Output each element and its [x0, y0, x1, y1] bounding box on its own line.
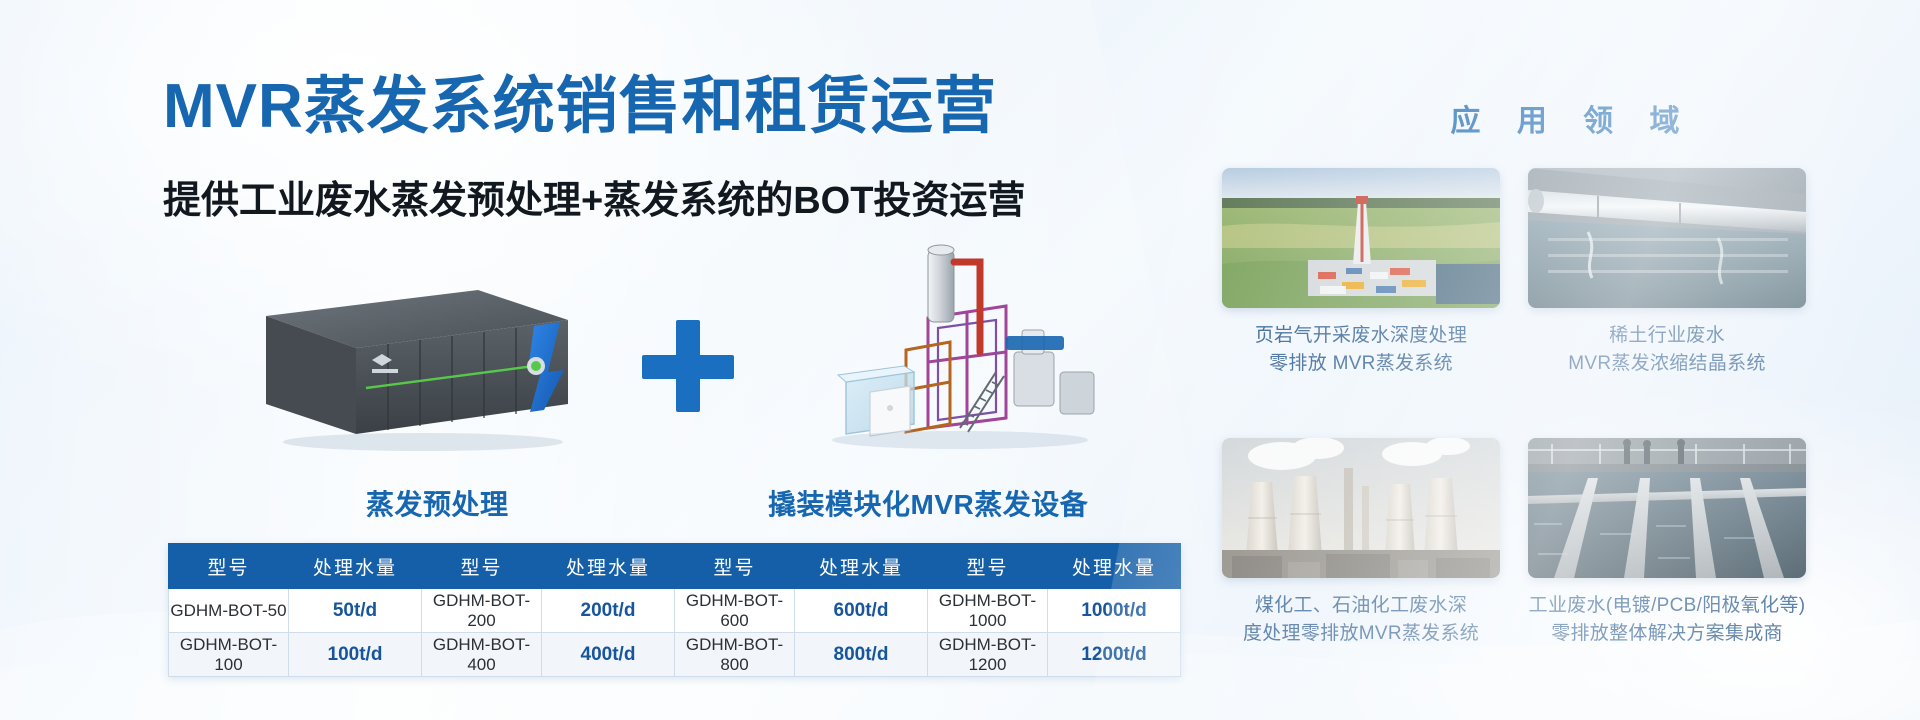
application-label-line1: 工业废水(电镀/PCB/阳极氧化等) — [1529, 595, 1806, 616]
table-header-cell: 处理水量 — [1048, 544, 1181, 589]
table-cell-model: GDHM-BOT-600 — [675, 589, 795, 633]
table-header-cell: 处理水量 — [542, 544, 675, 589]
table-row: GDHM-BOT-100 100t/d GDHM-BOT-400 400t/d … — [169, 633, 1181, 677]
industrial-wastewater-tank-photo — [1528, 438, 1806, 578]
application-card-label: 稀土行业废水 MVR蒸发浓缩结晶系统 — [1528, 322, 1806, 377]
application-label-line1: 页岩气开采废水深度处理 — [1255, 325, 1467, 346]
table-header-cell: 处理水量 — [795, 544, 928, 589]
shale-gas-drilling-site-photo — [1222, 168, 1500, 308]
evaporation-pretreatment-image — [248, 276, 578, 456]
application-label-line1: 稀土行业废水 — [1609, 325, 1725, 346]
table-header-cell: 处理水量 — [289, 544, 422, 589]
table-cell-model: GDHM-BOT-1200 — [928, 633, 1048, 677]
application-card-rare-earth[interactable]: 稀土行业废水 MVR蒸发浓缩结晶系统 — [1528, 168, 1806, 377]
application-card-label: 煤化工、石油化工废水深 度处理零排放MVR蒸发系统 — [1222, 592, 1500, 647]
table-header-row: 型号 处理水量 型号 处理水量 型号 处理水量 型号 处理水量 — [169, 544, 1181, 589]
table-cell-model: GDHM-BOT-400 — [422, 633, 542, 677]
product-caption-pretreatment: 蒸发预处理 — [366, 483, 509, 523]
applications-panel: 应 用 领 域 — [1210, 0, 1920, 720]
table-cell-capacity: 50t/d — [289, 589, 422, 633]
application-card-coal-chemical[interactable]: 煤化工、石油化工废水深 度处理零排放MVR蒸发系统 — [1222, 438, 1500, 647]
table-cell-model: GDHM-BOT-50 — [169, 589, 289, 633]
spec-table: 型号 处理水量 型号 处理水量 型号 处理水量 型号 处理水量 GDHM-BOT… — [168, 543, 1181, 677]
applications-heading: 应 用 领 域 — [1210, 96, 1920, 140]
coal-chemical-plant-photo — [1222, 438, 1500, 578]
left-panel: MVR蒸发系统销售和租赁运营 提供工业废水蒸发预处理+蒸发系统的BOT投资运营 — [0, 0, 1210, 720]
table-header-cell: 型号 — [675, 544, 795, 589]
skid-mvr-equipment-image — [810, 232, 1110, 462]
table-cell-model: GDHM-BOT-100 — [169, 633, 289, 677]
table-cell-model: GDHM-BOT-200 — [422, 589, 542, 633]
plus-vertical-bar — [676, 320, 700, 412]
table-cell-capacity: 800t/d — [795, 633, 928, 677]
application-label-line1: 煤化工、石油化工废水深 — [1255, 595, 1467, 616]
application-label-line2: MVR蒸发浓缩结晶系统 — [1568, 353, 1766, 374]
product-caption-mvr: 撬装模块化MVR蒸发设备 — [768, 483, 1088, 523]
table-header-cell: 型号 — [422, 544, 542, 589]
table-header-cell: 型号 — [928, 544, 1048, 589]
page-subtitle: 提供工业废水蒸发预处理+蒸发系统的BOT投资运营 — [163, 182, 1173, 220]
application-card-industrial-wastewater[interactable]: 工业废水(电镀/PCB/阳极氧化等) 零排放整体解决方案集成商 — [1528, 438, 1806, 647]
plus-icon — [642, 320, 734, 412]
application-card-shale-gas[interactable]: 页岩气开采废水深度处理 零排放 MVR蒸发系统 — [1222, 168, 1500, 377]
rare-earth-pipeline-photo — [1528, 168, 1806, 308]
table-cell-capacity: 1200t/d — [1048, 633, 1181, 677]
application-label-line2: 零排放整体解决方案集成商 — [1551, 623, 1783, 644]
table-cell-capacity: 400t/d — [542, 633, 675, 677]
table-cell-model: GDHM-BOT-800 — [675, 633, 795, 677]
page-title: MVR蒸发系统销售和租赁运营 — [163, 76, 1173, 138]
application-card-label: 页岩气开采废水深度处理 零排放 MVR蒸发系统 — [1222, 322, 1500, 377]
application-card-label: 工业废水(电镀/PCB/阳极氧化等) 零排放整体解决方案集成商 — [1528, 592, 1806, 647]
table-cell-capacity: 100t/d — [289, 633, 422, 677]
application-label-line2: 度处理零排放MVR蒸发系统 — [1243, 623, 1479, 644]
table-header-cell: 型号 — [169, 544, 289, 589]
table-cell-model: GDHM-BOT-1000 — [928, 589, 1048, 633]
table-cell-capacity: 200t/d — [542, 589, 675, 633]
table-cell-capacity: 1000t/d — [1048, 589, 1181, 633]
banner-root: MVR蒸发系统销售和租赁运营 提供工业废水蒸发预处理+蒸发系统的BOT投资运营 — [0, 0, 1920, 720]
table-row: GDHM-BOT-50 50t/d GDHM-BOT-200 200t/d GD… — [169, 589, 1181, 633]
application-label-line2: 零排放 MVR蒸发系统 — [1269, 353, 1453, 374]
table-cell-capacity: 600t/d — [795, 589, 928, 633]
